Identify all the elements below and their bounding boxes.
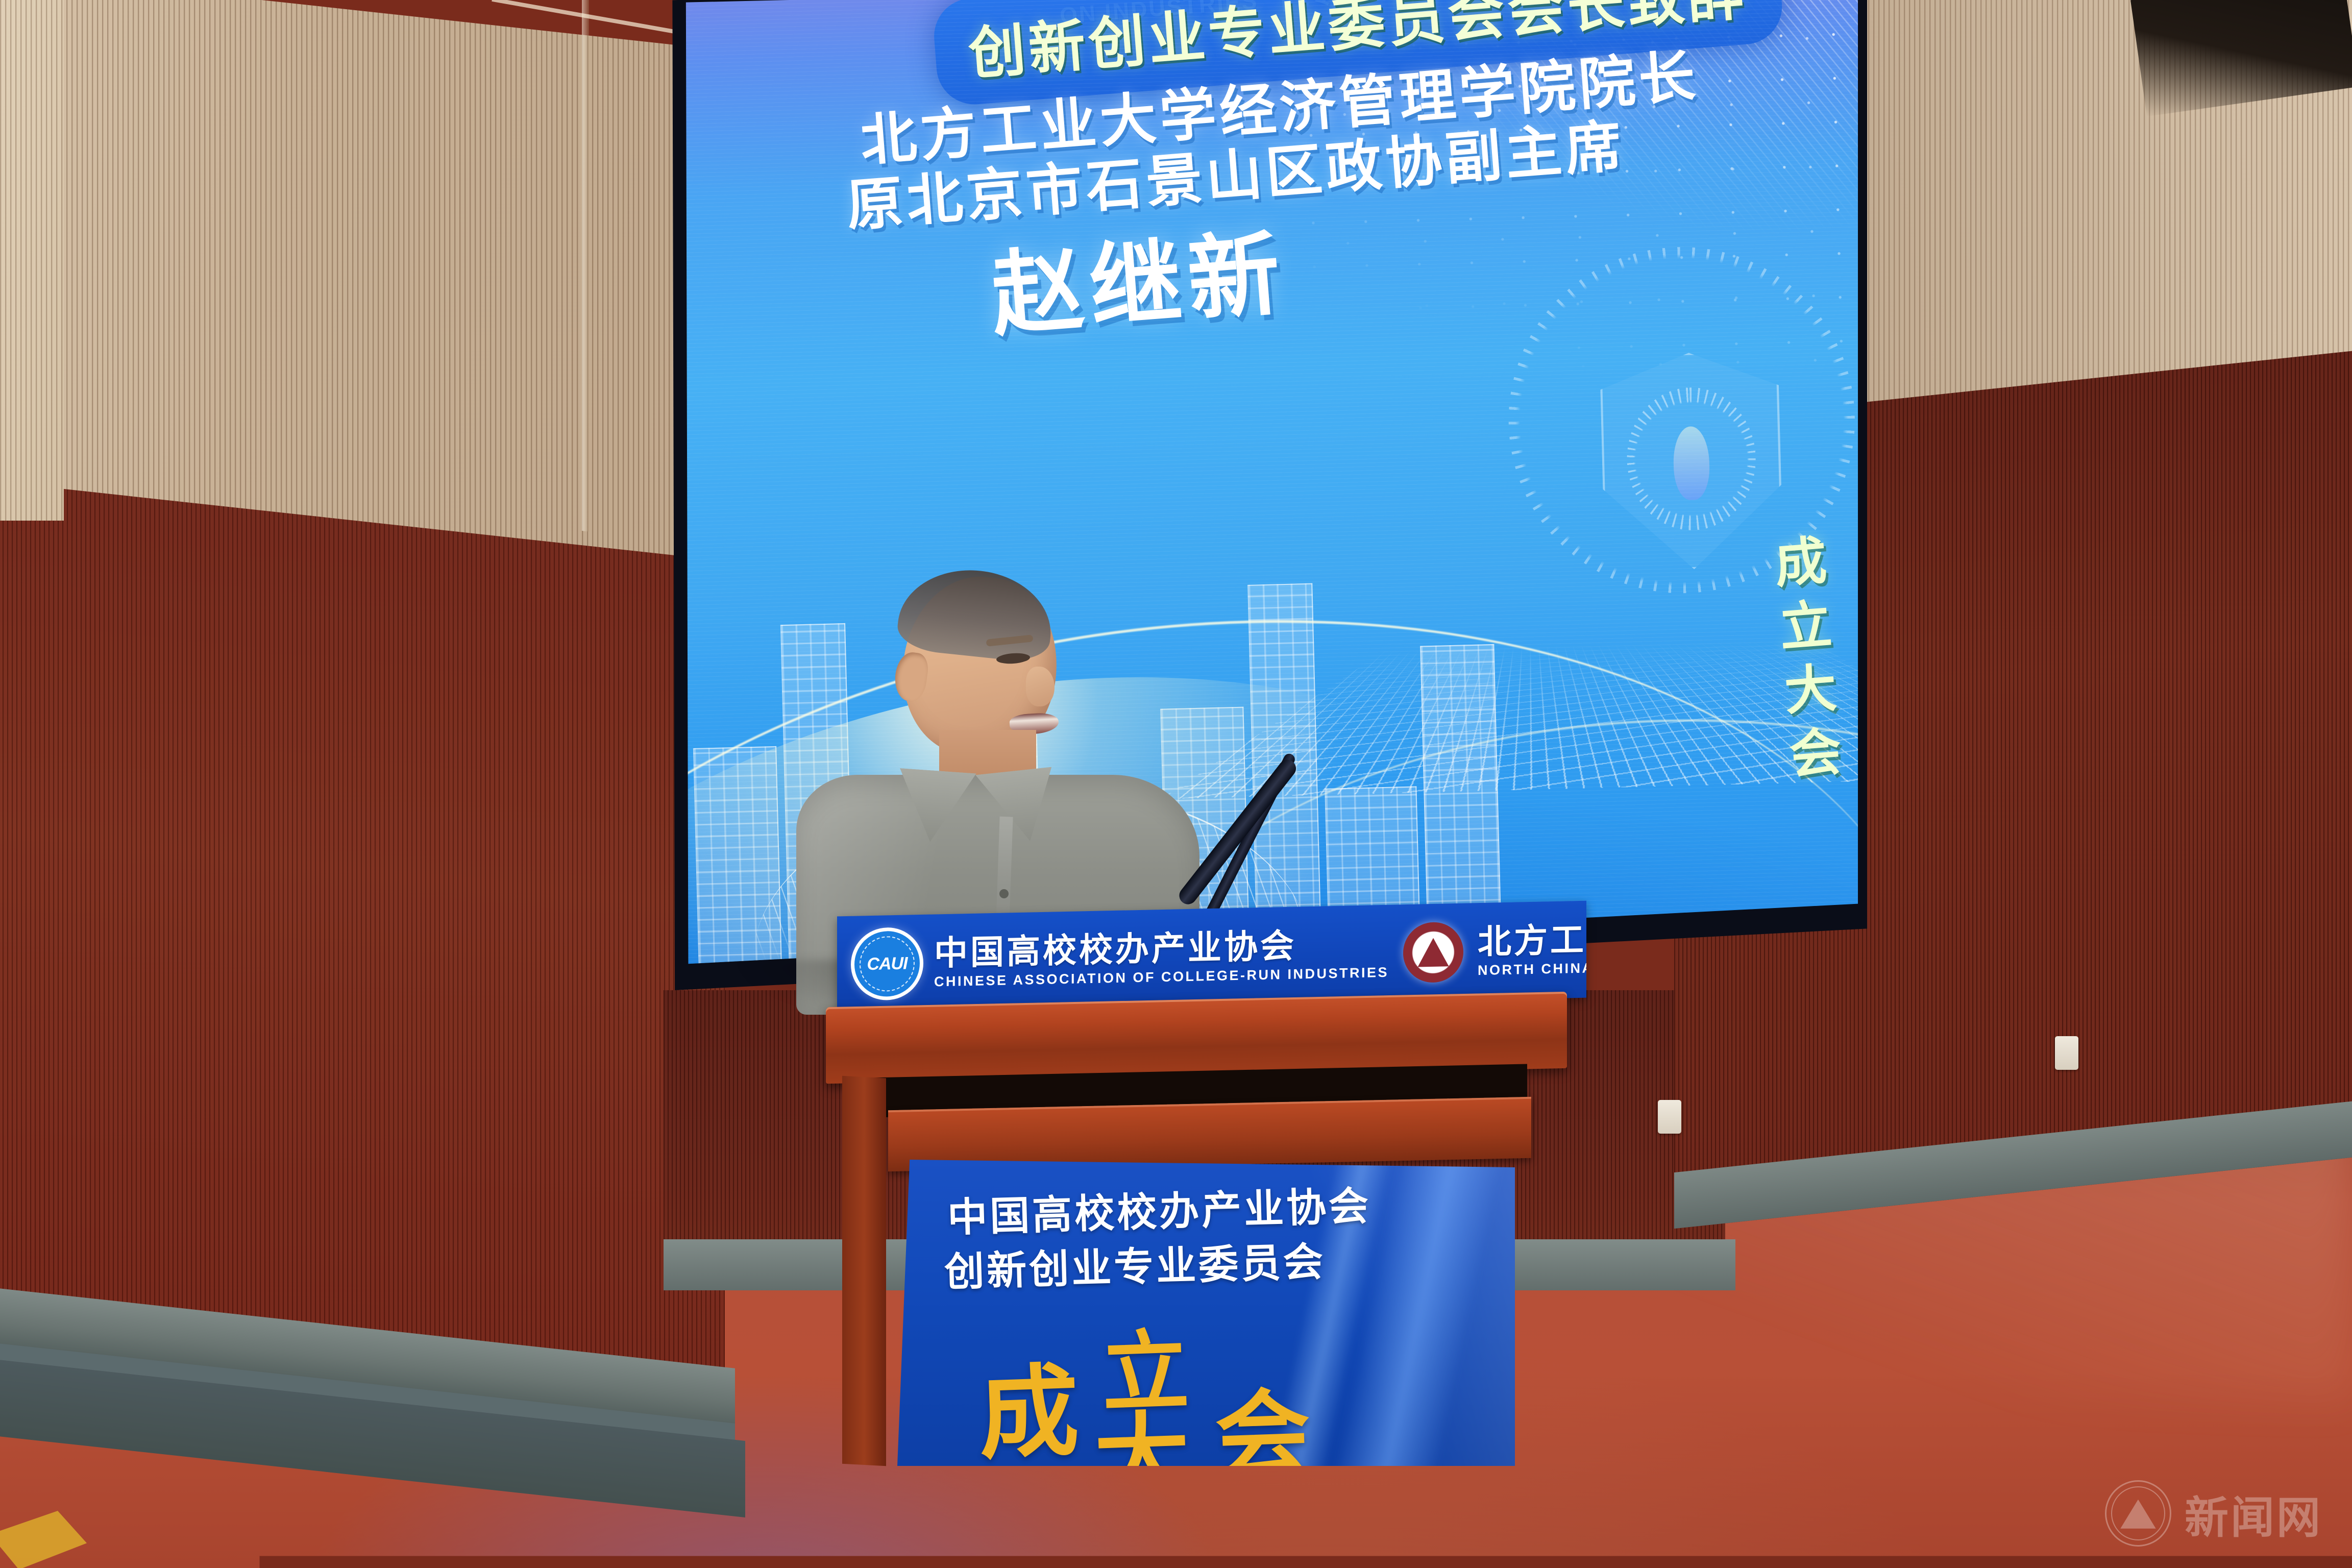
podium-leg-left	[842, 1076, 886, 1466]
wall-outlet-2[interactable]	[2055, 1036, 2078, 1070]
banner-big-char-4: 会	[1213, 1356, 1312, 1466]
ncut-name-block: 北方工业大学 NORTH CHINA UNIVERSITY OF TECHNOL…	[1478, 917, 1586, 979]
screen-vertical-title: 成立大会	[1756, 532, 1851, 793]
banner-big-title: 成 立 大 会	[971, 1305, 1436, 1466]
banner-big-char-3: 大	[1092, 1379, 1191, 1466]
podium-ledge-lower	[888, 1097, 1531, 1171]
caui-logo-text: CAUI	[854, 930, 920, 997]
banner-line-2: 创新创业专业委员会	[944, 1230, 1327, 1298]
caui-name-cn: 中国高校校办产业协会	[934, 926, 1389, 971]
shirt-button-1	[999, 889, 1009, 898]
nose	[1026, 667, 1055, 706]
wall-panel-upper-far-left	[0, 0, 64, 521]
podium: CAUI 中国高校校办产业协会 CHINESE ASSOCIATION OF C…	[735, 909, 1628, 1568]
caui-logo: CAUI	[854, 930, 920, 997]
banner-big-char-1: 成	[976, 1331, 1081, 1466]
ncut-seal-logo	[2105, 1480, 2171, 1547]
watermark: 新闻网	[2105, 1480, 2322, 1547]
wall-panel-upper-left	[0, 0, 725, 561]
ncut-logo	[1403, 922, 1463, 983]
wall-outlet-1[interactable]	[1658, 1100, 1681, 1134]
screen-speaker-name: 赵继新	[986, 199, 1290, 354]
podium-front-banner: 中国高校校办产业协会 创新创业专业委员会 成 立 大 会	[897, 1160, 1515, 1466]
ncut-name-cn: 北方工业大学	[1478, 917, 1586, 960]
wall-seam	[582, 0, 589, 532]
screenshot-root: ON INDUSTRIES 创新创业 专业委员会 创新创业专业委员会会长致辞 北…	[0, 0, 2352, 1568]
wall-wainscot-left	[0, 403, 725, 1429]
caui-name-block: 中国高校校办产业协会 CHINESE ASSOCIATION OF COLLEG…	[934, 926, 1389, 990]
watermark-text: 新闻网	[2185, 1482, 2322, 1546]
